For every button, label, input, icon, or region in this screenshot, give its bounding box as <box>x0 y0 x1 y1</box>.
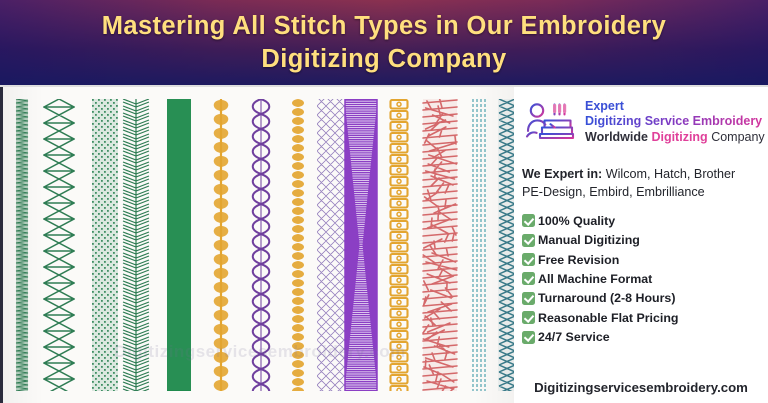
checklist-item: Turnaround (2-8 Hours) <box>522 291 762 305</box>
stitch-column-checker-fill-green <box>91 99 119 391</box>
expertise-text: We Expert in: Wilcom, Hatch, Brother PE-… <box>522 165 762 202</box>
check-icon <box>522 311 535 324</box>
checklist-item-label: Free Revision <box>538 253 619 267</box>
check-icon <box>522 272 535 285</box>
checklist-item: All Machine Format <box>522 272 762 286</box>
poster-root: Mastering All Stitch Types in Our Embroi… <box>0 0 768 403</box>
stitch-column-cross-stitch-teal <box>497 99 514 391</box>
stitch-column-running-lines-teal <box>470 99 490 391</box>
stitch-column-wheat-braid-gold <box>286 99 310 391</box>
check-icon <box>522 253 535 266</box>
content-area: Digitizingservicesembroidery.com <box>0 87 768 403</box>
checklist-item: Free Revision <box>522 253 762 267</box>
checklist-item-label: All Machine Format <box>538 272 652 286</box>
checklist-item: Reasonable Flat Pricing <box>522 311 762 325</box>
stitch-column-diamond-lattice-green <box>43 99 75 391</box>
stitch-column-feather-chevron-green <box>121 99 151 391</box>
embroidery-machine-operator-icon <box>524 98 580 146</box>
checklist-item-label: Manual Digitizing <box>538 233 640 247</box>
checklist-item: 100% Quality <box>522 214 762 228</box>
logo-line-worldwide: Worldwide Digitizing Company <box>585 130 765 145</box>
logo-line-service: Digitizing Service Embroidery <box>585 114 765 129</box>
brand-logo: Expert Digitizing Service Embroidery Wor… <box>522 91 762 153</box>
check-icon <box>522 331 535 344</box>
checklist-item-label: Reasonable Flat Pricing <box>538 311 678 325</box>
check-icon <box>522 234 535 247</box>
logo-word-digitizing: Digitizing <box>651 130 707 144</box>
logo-word-worldwide: Worldwide <box>585 130 648 144</box>
brand-logo-text: Expert Digitizing Service Embroidery Wor… <box>585 99 765 145</box>
info-panel: Expert Digitizing Service Embroidery Wor… <box>514 87 768 403</box>
stitch-column-chain-loop-purple <box>249 99 273 391</box>
checklist-item: 24/7 Service <box>522 330 762 344</box>
header-banner: Mastering All Stitch Types in Our Embroi… <box>0 0 768 85</box>
stitch-sample-board: Digitizingservicesembroidery.com <box>0 87 514 403</box>
website-url: Digitizingservicesembroidery.com <box>514 380 768 395</box>
checklist-item: Manual Digitizing <box>522 233 762 247</box>
check-icon <box>522 292 535 305</box>
checklist-item-label: 100% Quality <box>538 214 615 228</box>
stitch-column-tangle-crosshatch-red <box>422 99 458 391</box>
logo-word-company: Company <box>711 130 765 144</box>
stitch-column-narrow-zigzag-green <box>15 99 29 391</box>
checklist-item-label: 24/7 Service <box>538 330 610 344</box>
page-title-line-2: Digitizing Company <box>261 43 506 76</box>
stitch-column-leaf-vine-gold <box>206 99 236 391</box>
logo-line-expert: Expert <box>585 99 765 114</box>
stitch-column-square-chain-gold <box>388 99 410 391</box>
checklist-item-label: Turnaround (2-8 Hours) <box>538 291 675 305</box>
feature-checklist: 100% QualityManual DigitizingFree Revisi… <box>522 214 762 344</box>
page-title-line-1: Mastering All Stitch Types in Our Embroi… <box>102 10 667 43</box>
check-icon <box>522 214 535 227</box>
expertise-label: We Expert in: <box>522 167 602 181</box>
stitch-column-solid-satin-green <box>166 99 192 391</box>
stitch-column-hourglass-satin-purple <box>344 99 378 391</box>
